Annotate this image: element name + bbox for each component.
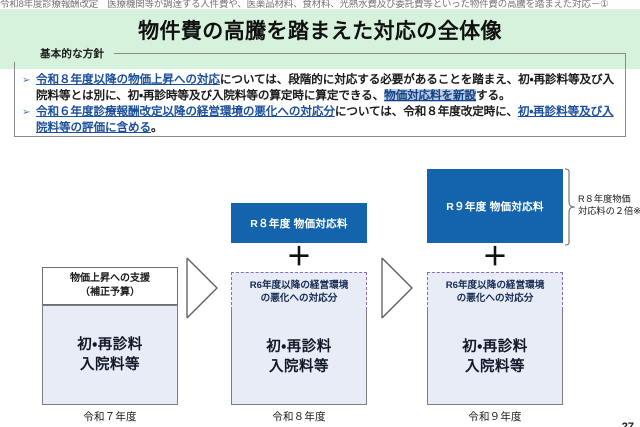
double-amount-note: R８年度物価 対応料の２倍※ [578,193,640,217]
overview-diagram: 物価上昇への支援 （補正予算） 初・再診料 入院料等 令和７年度 R８年度 物価… [0,0,640,427]
r7-caption: 令和７年度 [42,409,178,424]
r9-price-response-label: R９年度 物価対応料 [446,199,544,214]
double-amount-bracket-icon [564,168,578,246]
r7-support-line2: （補正予算） [80,287,140,298]
r7-base-line2: 入院料等 [80,357,140,373]
r9-base-box: 初・再診料 入院料等 [427,310,563,405]
r8-price-response-box: R８年度 物価対応料 [231,203,367,243]
r9-deterioration-line2: の悪化への対応分 [457,293,534,304]
r7-support-line1: 物価上昇への支援 [70,273,150,284]
r8-plus-sign: ＋ [231,245,367,270]
r8-base-text: 初・再診料 入院料等 [266,337,331,377]
page-number: 27 [622,421,634,427]
double-amount-note-line2: 対応料の２倍※ [578,206,640,216]
r8-deterioration-line2: の悪化への対応分 [261,293,338,304]
slide-canvas: 令和8年度診療報酬改定 医療機関等が調達する人件費や、医薬品材料、食材料、光熱水… [0,0,640,427]
r7-base-box: 初・再診料 入院料等 [42,305,178,405]
policy-heading-backdrop [14,46,30,62]
r9-deterioration-text: R6年度以降の経営環境 の悪化への対応分 [446,279,545,305]
r9-deterioration-box: R6年度以降の経営環境 の悪化への対応分 [427,272,563,310]
policy-heading-label: 基本的な方針 [30,46,114,62]
r8-deterioration-text: R6年度以降の経営環境 の悪化への対応分 [250,279,349,305]
r8-caption: 令和８年度 [231,409,367,424]
r7-base-line1: 初・再診料 [77,337,142,353]
double-amount-note-line1: R８年度物価 [578,194,631,204]
r9-caption: 令和９年度 [427,409,563,424]
r8-base-box: 初・再診料 入院料等 [231,310,367,405]
r8-deterioration-line1: R6年度以降の経営環境 [250,280,349,291]
r9-deterioration-line1: R6年度以降の経営環境 [446,280,545,291]
r9-base-line2: 入院料等 [465,359,525,375]
arrow-r8-r9-icon [379,256,417,320]
r7-support-text: 物価上昇への支援 （補正予算） [70,272,150,300]
r9-base-line1: 初・再診料 [462,339,527,355]
r9-base-text: 初・再診料 入院料等 [462,337,527,377]
r7-base-text: 初・再診料 入院料等 [77,335,142,375]
r7-support-box: 物価上昇への支援 （補正予算） [42,267,178,305]
r8-base-line2: 入院料等 [269,359,329,375]
arrow-r7-r8-icon [184,256,222,320]
r8-base-line1: 初・再診料 [266,339,331,355]
r9-plus-sign: ＋ [427,245,563,270]
r8-deterioration-box: R6年度以降の経営環境 の悪化への対応分 [231,272,367,310]
r8-price-response-label: R８年度 物価対応料 [250,216,348,231]
r9-price-response-box: R９年度 物価対応料 [427,169,563,243]
